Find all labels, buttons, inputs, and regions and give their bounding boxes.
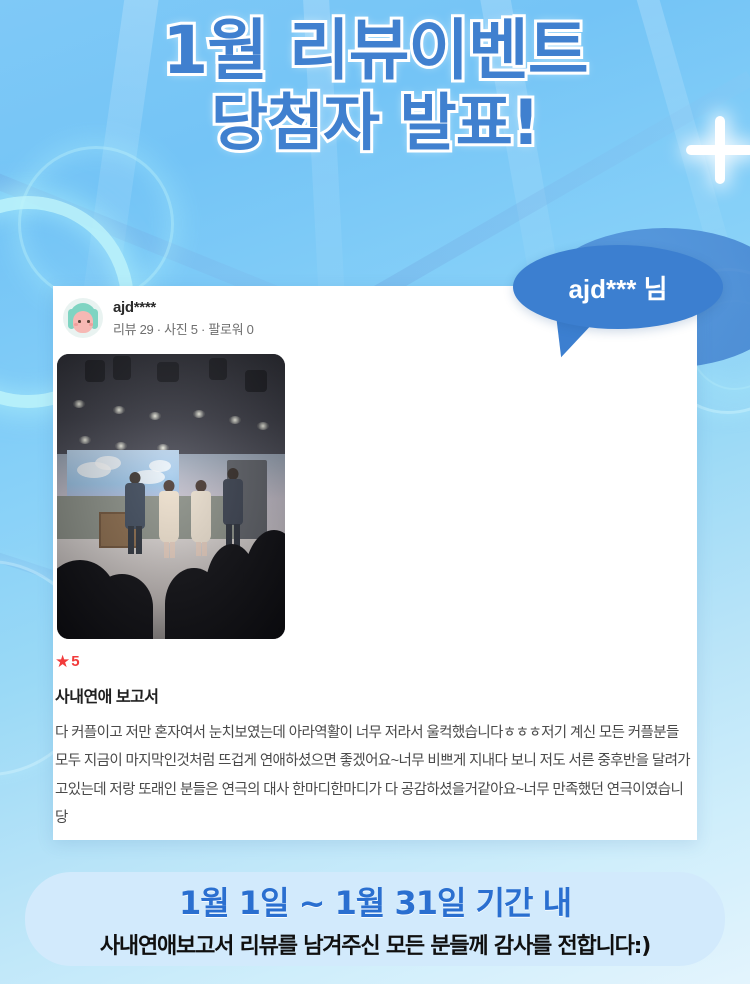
banner-period-text: 1월 1일 ~ 1월 31일 기간 내 — [179, 878, 571, 924]
page-title: 1월 리뷰이벤트 당첨자 발표! — [0, 14, 750, 159]
rating-row: ★ 5 — [55, 653, 697, 670]
avatar-face — [73, 311, 93, 333]
speech-bubble: ajd*** 님 — [513, 245, 723, 329]
winner-callout: ajd*** 님 — [513, 245, 723, 329]
glow-circle-decoration — [18, 146, 174, 302]
avatar-eye-left — [78, 320, 81, 323]
promo-poster: 1월 리뷰이벤트 당첨자 발표! ajd*** 님 ajd**** 리뷰 29 — [0, 0, 750, 984]
avatar-eye-right — [87, 320, 90, 323]
avatar-blush-right — [89, 323, 93, 326]
rating-value: 5 — [71, 653, 79, 670]
event-period-banner: 1월 1일 ~ 1월 31일 기간 내 사내연애보고서 리뷰를 남겨주신 모든 … — [25, 872, 725, 966]
review-card: ajd**** 리뷰 29 · 사진 5 · 팔로워 0 — [53, 286, 697, 840]
winner-name-label: ajd*** 님 — [568, 269, 667, 306]
review-profile-meta: ajd**** 리뷰 29 · 사진 5 · 팔로워 0 — [113, 299, 254, 338]
avatar-blush-left — [74, 323, 78, 326]
avatar — [63, 298, 103, 338]
review-title: 사내연애 보고서 — [55, 683, 697, 707]
headline-line-2: 당첨자 발표! — [0, 88, 750, 159]
reviewer-name: ajd**** — [113, 299, 254, 316]
review-body-text: 다 커플이고 저만 혼자여서 눈치보였는데 아라역활이 너무 저라서 울컥했습니… — [55, 719, 691, 832]
headline-line-1: 1월 리뷰이벤트 — [0, 14, 750, 88]
reviewer-stats: 리뷰 29 · 사진 5 · 팔로워 0 — [113, 319, 254, 338]
banner-thanks-text: 사내연애보고서 리뷰를 남겨주신 모든 분들께 감사를 전합니다:) — [100, 928, 650, 960]
photo-vignette — [57, 354, 285, 639]
star-icon: ★ — [55, 653, 70, 670]
review-photo — [57, 354, 285, 639]
